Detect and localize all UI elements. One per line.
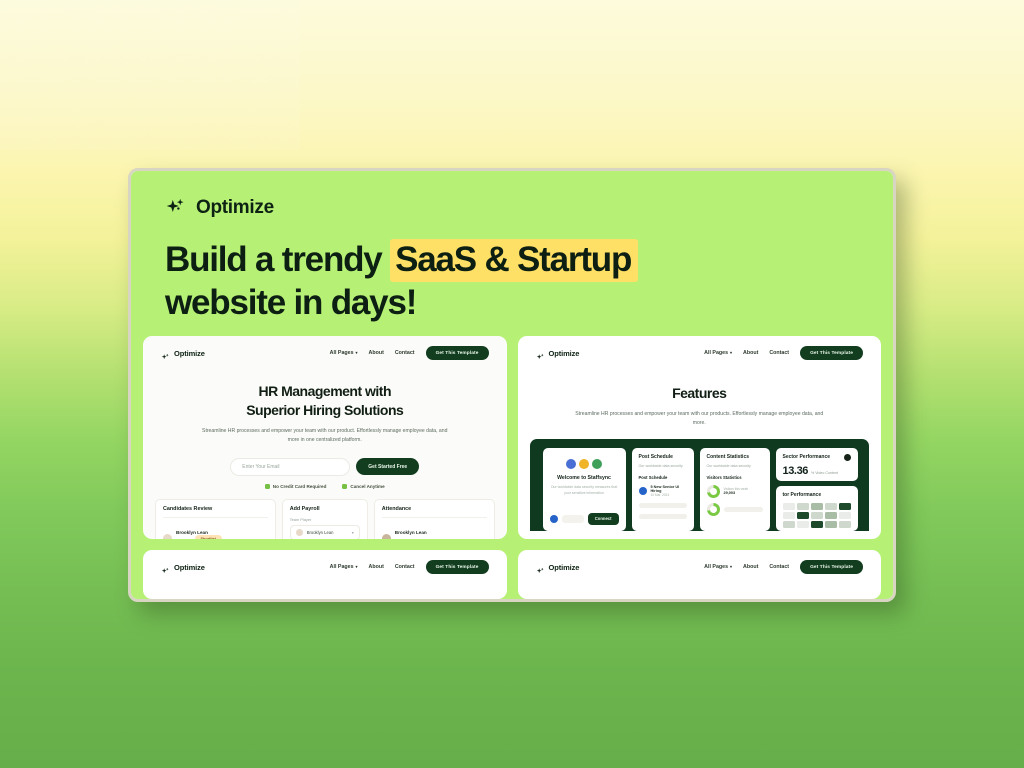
nav-link-all-pages[interactable]: All Pages▾ (330, 350, 358, 356)
pane-title: tor Performance (783, 492, 851, 498)
nav-link-contact[interactable]: Contact (395, 350, 415, 356)
signup-benefits: No Credit Card Required Cancel Anytime (143, 484, 507, 489)
sparkle-icon (161, 563, 170, 572)
heatmap-cell (811, 512, 823, 519)
hr-subtitle: Streamline HR processes and empower your… (200, 427, 450, 445)
brand-logo[interactable]: Optimize (131, 197, 893, 219)
mini-nav-links: All Pages▾ About Contact Get This Templa… (704, 346, 863, 360)
candidate-info: Brooklyn Lean Software Engineer (176, 521, 191, 539)
gear-icon[interactable] (844, 454, 851, 461)
placeholder-bar (639, 514, 687, 519)
pane-title: Sector Performance (783, 454, 831, 460)
pane-header: Sector Performance (783, 454, 851, 461)
email-input[interactable]: Enter Your Email (230, 458, 350, 476)
hr-title-line1: HR Management with (143, 382, 507, 401)
table-row[interactable]: Brooklyn Lean Software Engineer Shortlis… (163, 517, 268, 539)
kpi-value: 13.36 % Video Content (783, 465, 851, 477)
browser-frame: Optimize Build a trendy SaaS & Startup w… (128, 168, 896, 602)
status-badge: Shortlist (195, 535, 222, 539)
headline-highlight: SaaS & Startup (390, 239, 638, 282)
mini-nav: Optimize All Pages▾ About Contact Get Th… (518, 550, 882, 574)
widget-heading: Attendance (382, 506, 487, 512)
chevron-down-icon: ▾ (730, 351, 732, 355)
brand-name: Optimize (196, 197, 274, 219)
benefit-cancel-anytime: Cancel Anytime (342, 484, 384, 489)
pane-subtitle: Our worldwide data security (707, 463, 763, 469)
mini-nav: Optimize All Pages▾ About Contact Get Th… (518, 336, 882, 360)
get-this-template-button[interactable]: Get This Template (426, 346, 489, 360)
mini-nav-links: All Pages▾ About Contact Get This Templa… (704, 560, 863, 574)
mini-brand-name: Optimize (174, 349, 205, 358)
nav-link-all-pages[interactable]: All Pages▾ (704, 564, 732, 570)
avatar (163, 534, 172, 539)
mini-nav: Optimize All Pages▾ About Contact Get Th… (143, 550, 507, 574)
check-icon (342, 484, 347, 489)
list-item-text: 5 New Senior UI Hiring 10 Mar, 2024 (651, 485, 687, 497)
mini-brand-logo[interactable]: Optimize (536, 349, 580, 358)
mini-brand-name: Optimize (174, 563, 205, 572)
avatar (566, 459, 576, 469)
nav-link-about[interactable]: About (743, 564, 758, 570)
field-label-team-player: Team Player (290, 517, 360, 522)
pane-title: Content Statistics (707, 454, 763, 460)
get-this-template-button[interactable]: Get This Template (800, 560, 863, 574)
heatmap-grid (783, 503, 851, 528)
heatmap-cell (797, 503, 809, 510)
stat-text (724, 507, 763, 512)
get-started-free-button[interactable]: Get Started Free (356, 458, 419, 475)
mini-brand-name: Optimize (549, 563, 580, 572)
get-this-template-button[interactable]: Get This Template (800, 346, 863, 360)
heatmap-cell (839, 503, 851, 510)
nav-link-all-pages[interactable]: All Pages▾ (330, 564, 358, 570)
email-signup-row: Enter Your Email Get Started Free (143, 458, 507, 476)
preview-card-our-story[interactable]: Optimize All Pages▾ About Contact Get Th… (143, 550, 507, 599)
connect-button[interactable]: Connect (588, 513, 619, 525)
stat-value: 29,003 (724, 491, 763, 495)
stat-row: Visitors this week 29,003 (707, 485, 763, 498)
dashboard-pane-sector-heatmap[interactable]: tor Performance (776, 486, 858, 531)
hero-banner: Optimize Build a trendy SaaS & Startup w… (131, 171, 893, 336)
kpi-number: 13.36 (783, 465, 809, 477)
preview-card-integrations[interactable]: Optimize All Pages▾ About Contact Get Th… (518, 550, 882, 599)
app-icon (639, 487, 647, 495)
connect-row: Connect (550, 513, 619, 525)
progress-ring (707, 503, 720, 516)
chevron-down-icon: ▾ (356, 565, 358, 569)
avatar (579, 459, 589, 469)
nav-link-contact[interactable]: Contact (769, 350, 789, 356)
progress-ring (707, 485, 720, 498)
dashboard-pane-welcome[interactable]: Welcome to Staffsync Our worldwide data … (543, 448, 626, 531)
widget-candidates-review[interactable]: Candidates Review Brooklyn Lean Software… (155, 499, 276, 539)
widget-heading: Add Payroll (290, 506, 360, 512)
preview-card-features[interactable]: Optimize All Pages▾ About Contact Get Th… (518, 336, 882, 539)
mini-brand-name: Optimize (549, 349, 580, 358)
password-field[interactable] (562, 515, 584, 523)
list-item[interactable]: 5 New Senior UI Hiring 10 Mar, 2024 (639, 485, 687, 497)
heatmap-cell (825, 521, 837, 528)
chevron-down-icon: ▾ (352, 530, 354, 535)
check-icon (265, 484, 270, 489)
list-item-date: 10 Mar, 2024 (651, 493, 687, 497)
sparkle-icon (165, 197, 187, 219)
heatmap-cell (839, 521, 851, 528)
hr-title: HR Management with Superior Hiring Solut… (143, 382, 507, 420)
sparkle-icon (536, 563, 545, 572)
stat-row (707, 503, 763, 516)
heatmap-cell (811, 503, 823, 510)
avatar (296, 529, 303, 536)
heatmap-cell (783, 521, 795, 528)
widget-add-payroll[interactable]: Add Payroll Team Player Brooklyn Lean ▾ … (282, 499, 368, 539)
dashboard-pane-content-statistics[interactable]: Content Statistics Our worldwide data se… (700, 448, 770, 531)
pane-section-label: Post Schedule (639, 475, 687, 480)
avatar-group (550, 459, 619, 469)
pane-subtitle: Our worldwide data security (639, 463, 687, 469)
nav-link-contact[interactable]: Contact (769, 564, 789, 570)
grain-texture-overlay (0, 0, 300, 150)
integrations-title: Integrations (518, 596, 882, 599)
heatmap-cell (839, 512, 851, 519)
widget-attendance[interactable]: Attendance Brooklyn Lean Software Engine… (374, 499, 495, 539)
heatmap-cell (825, 512, 837, 519)
benefit-no-credit-card: No Credit Card Required (265, 484, 327, 489)
heatmap-cell (797, 521, 809, 528)
chevron-down-icon: ▾ (356, 351, 358, 355)
template-preview-grid: Optimize All Pages▾ About Contact Get Th… (131, 336, 893, 599)
pane-title: Post Schedule (639, 454, 687, 460)
stat-text: Visitors this week 29,003 (724, 487, 763, 495)
nav-link-about[interactable]: About (743, 350, 758, 356)
nav-link-contact[interactable]: Contact (395, 564, 415, 570)
heatmap-cell (783, 503, 795, 510)
dashboard-pane-post-schedule[interactable]: Post Schedule Our worldwide data securit… (632, 448, 694, 531)
get-this-template-button[interactable]: Get This Template (426, 560, 489, 574)
widget-heading: Candidates Review (163, 506, 268, 512)
chevron-down-icon: ▾ (730, 565, 732, 569)
heatmap-cell (825, 503, 837, 510)
mini-nav: Optimize All Pages▾ About Contact Get Th… (143, 336, 507, 360)
our-story-title: Our Story (143, 596, 507, 599)
mini-brand-logo[interactable]: Optimize (161, 563, 205, 572)
sparkle-icon (161, 349, 170, 358)
nav-link-all-pages[interactable]: All Pages▾ (704, 350, 732, 356)
table-row[interactable]: Brooklyn Lean Software Engineer In 08:00… (382, 517, 487, 539)
headline-part2: website in days! (165, 282, 893, 325)
employee-info: Brooklyn Lean Software Engineer (395, 521, 436, 539)
heatmap-cell (811, 521, 823, 528)
hr-title-line2: Superior Hiring Solutions (143, 401, 507, 420)
avatar (592, 459, 602, 469)
mini-brand-logo[interactable]: Optimize (536, 563, 580, 572)
row-meta: In 08:00 AM Out 06:00 PM (440, 530, 487, 539)
select-value: Brooklyn Lean (307, 530, 348, 535)
features-dashboard-mockup: Welcome to Staffsync Our worldwide data … (530, 439, 870, 531)
headline-part1: Build a trendy (165, 240, 390, 279)
kpi-unit: % Video Content (811, 471, 838, 475)
mini-brand-logo[interactable]: Optimize (161, 349, 205, 358)
heatmap-cell (783, 512, 795, 519)
team-player-select[interactable]: Brooklyn Lean ▾ (290, 525, 360, 539)
list-item-title: 5 New Senior UI Hiring (651, 485, 687, 493)
features-subtitle: Streamline HR processes and empower your… (574, 410, 824, 428)
features-title: Features (518, 384, 882, 403)
employee-name: Brooklyn Lean (395, 530, 427, 535)
welcome-title: Welcome to Staffsync (550, 475, 619, 481)
mini-nav-links: All Pages▾ About Contact Get This Templa… (330, 346, 489, 360)
app-icon (550, 515, 558, 523)
heatmap-cell (797, 512, 809, 519)
nav-link-about[interactable]: About (369, 350, 384, 356)
welcome-subtitle: Our worldwide data security measures tha… (550, 484, 619, 497)
sparkle-icon (536, 349, 545, 358)
dashboard-right-column: Sector Performance 13.36 % Video Content… (776, 448, 858, 531)
nav-link-about[interactable]: About (369, 564, 384, 570)
pane-section-label: Visitors Statistics (707, 475, 763, 480)
candidate-name: Brooklyn Lean (176, 530, 208, 535)
preview-card-hr-management[interactable]: Optimize All Pages▾ About Contact Get Th… (143, 336, 507, 539)
placeholder-bar (639, 503, 687, 508)
row-meta: 09:52 PM 10 Mar, 2024 (226, 530, 268, 539)
page-title: Build a trendy SaaS & Startup website in… (131, 239, 893, 324)
avatar (382, 534, 391, 539)
mini-nav-links: All Pages▾ About Contact Get This Templa… (330, 560, 489, 574)
dashboard-pane-sector-performance[interactable]: Sector Performance 13.36 % Video Content (776, 448, 858, 481)
hr-widgets: Candidates Review Brooklyn Lean Software… (143, 499, 507, 539)
